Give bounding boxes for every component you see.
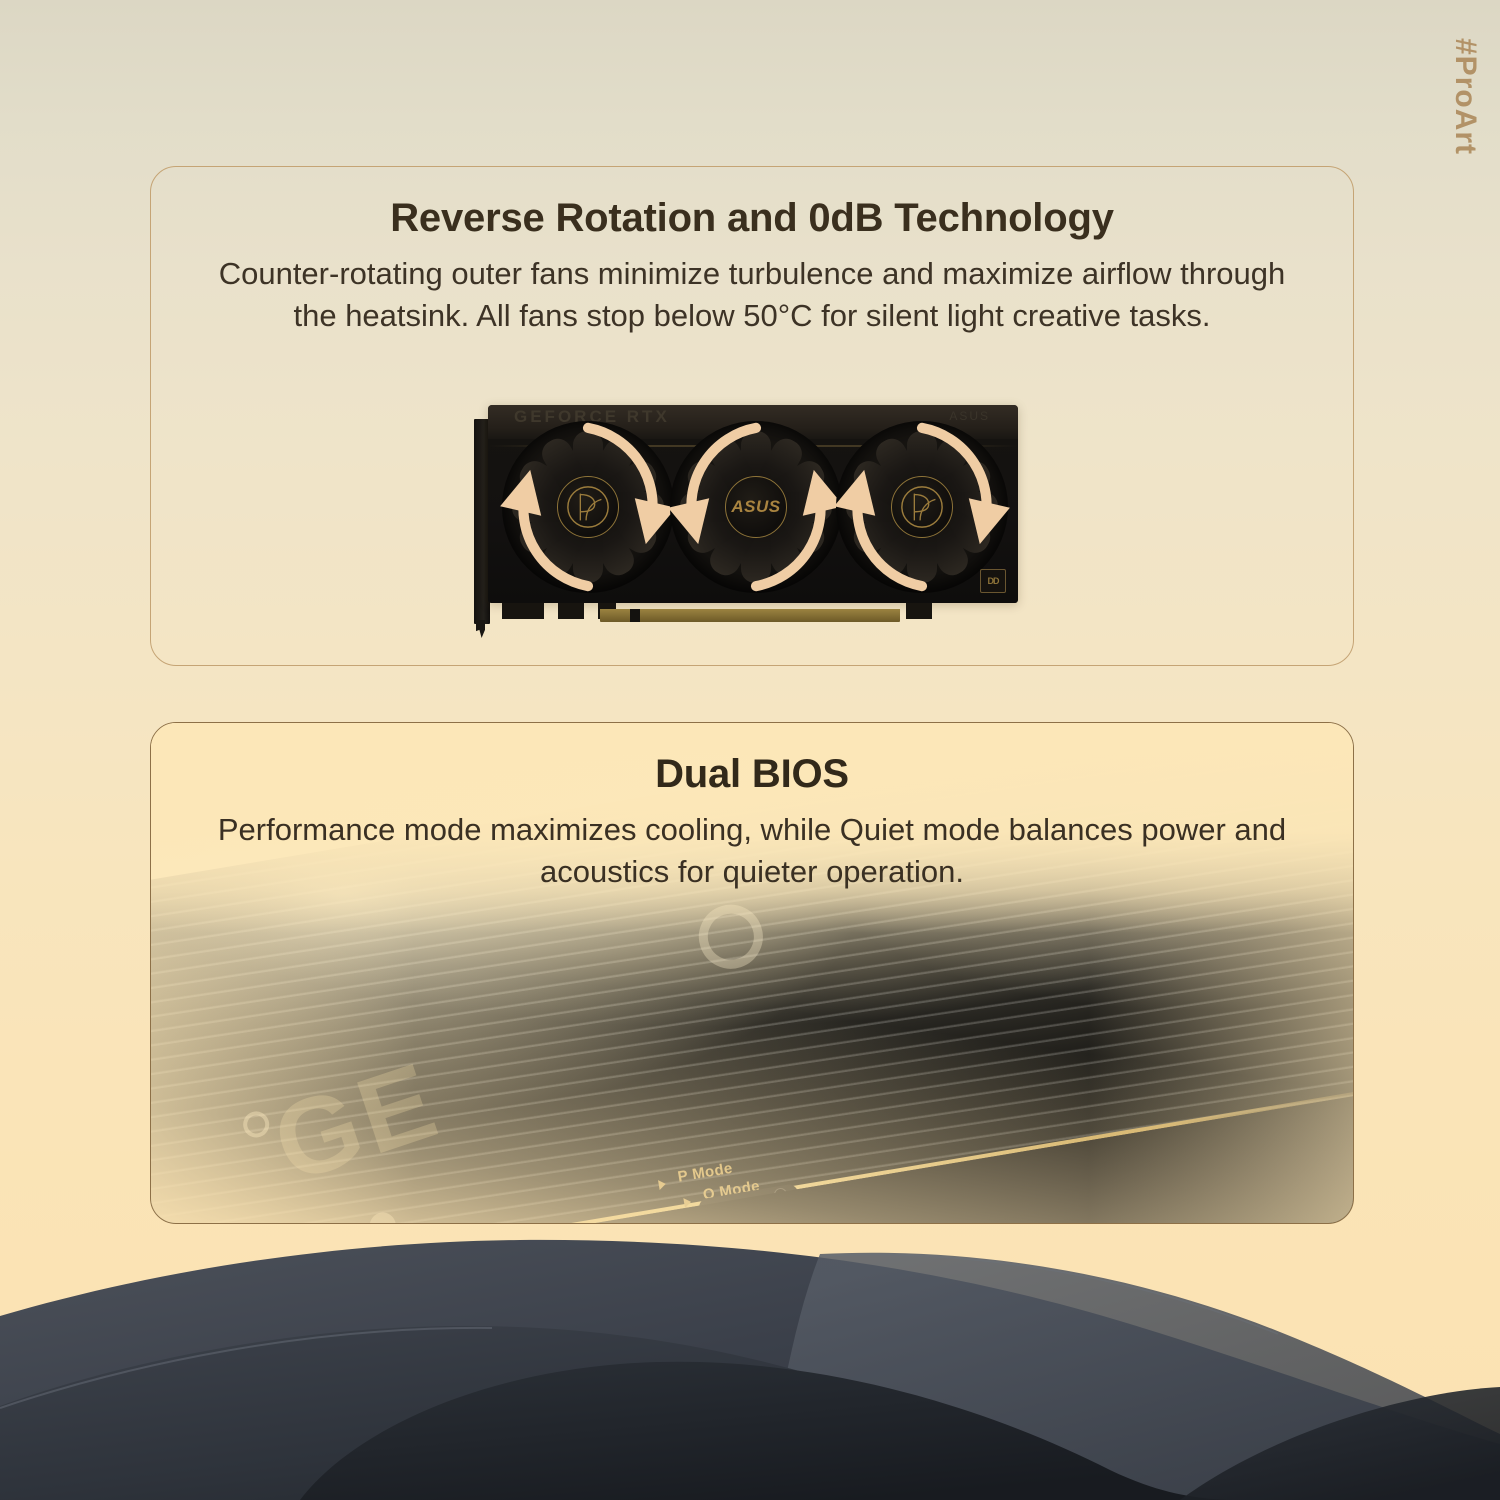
fan-row: ASUS: [488, 421, 1018, 603]
p-mode-arrow-icon: [658, 1179, 667, 1190]
certification-badge: DD: [980, 569, 1006, 593]
feature-card-reverse-rotation: Reverse Rotation and 0dB Technology Coun…: [150, 166, 1354, 666]
card-two-header: Dual BIOS Performance mode maximizes coo…: [151, 723, 1353, 894]
fan-left-rotation-arrow: [496, 415, 680, 599]
feature-card-dual-bios: GE P Mode Q Mode J18: [150, 722, 1354, 1224]
fan-right: [836, 421, 1008, 593]
pcie-connector: [600, 609, 900, 622]
graphics-card-image: GEFORCE RTX ASUS: [151, 375, 1353, 655]
pcie-notch: [630, 609, 640, 622]
pcb-edge: [502, 603, 932, 625]
card-one-description: Counter-rotating outer fans minimize tur…: [215, 253, 1289, 338]
fan-left: [502, 421, 674, 593]
product-feature-page: #ProArt Reverse Rotation and 0dB Technol…: [0, 0, 1500, 1500]
proart-hashtag-wordmark: #ProArt: [1448, 38, 1482, 155]
card-one-title: Reverse Rotation and 0dB Technology: [215, 195, 1289, 241]
card-two-description: Performance mode maximizes cooling, whil…: [215, 809, 1289, 894]
fan-center: ASUS: [670, 421, 842, 593]
card-two-title: Dual BIOS: [215, 751, 1289, 797]
fan-center-rotation-arrow: [664, 415, 848, 599]
gpu-shroud: GEFORCE RTX ASUS: [488, 405, 1018, 603]
gpu-illustration: GEFORCE RTX ASUS: [474, 381, 1030, 631]
abstract-sculpture-graphic: [0, 1220, 1500, 1500]
card-one-header: Reverse Rotation and 0dB Technology Coun…: [151, 167, 1353, 338]
certification-badge-text: DD: [988, 576, 999, 586]
